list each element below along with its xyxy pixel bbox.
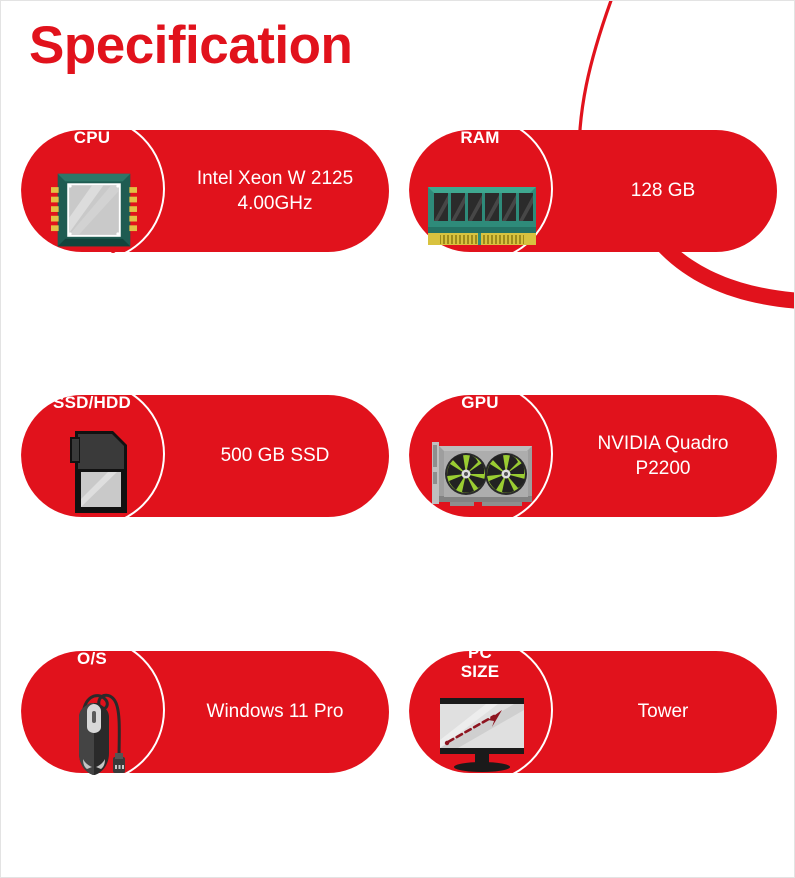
spec-value-ram: 128 GB — [549, 130, 777, 252]
badge-gpu: GPU — [407, 381, 557, 531]
badge-ram: RAM — [407, 116, 557, 266]
spec-card-storage[interactable]: SSD/HDD 500 GB SSD — [21, 395, 389, 517]
spec-label-storage: SSD/HDD — [19, 393, 165, 412]
spec-card-grid: CPU — [1, 1, 795, 878]
spec-value-text: Intel Xeon W 2125 4.00GHz — [197, 166, 353, 216]
spec-value-cpu: Intel Xeon W 2125 4.00GHz — [161, 130, 389, 252]
spec-label-ram: RAM — [407, 128, 553, 147]
computer-mouse-icon — [53, 681, 135, 779]
spec-value-text: 500 GB SSD — [221, 443, 330, 468]
badge-os: O/S — [19, 637, 169, 787]
spec-value-text: NVIDIA Quadro P2200 — [598, 431, 729, 481]
memory-card-icon — [55, 429, 133, 515]
spec-value-pc-size: Tower — [549, 651, 777, 773]
spec-card-cpu[interactable]: CPU — [21, 130, 389, 252]
badge-cpu: CPU — [19, 116, 169, 266]
spec-label-os: O/S — [19, 649, 165, 668]
spec-card-ram[interactable]: RAM — [409, 130, 777, 252]
spec-value-storage: 500 GB SSD — [161, 395, 389, 517]
spec-card-os[interactable]: O/S — [21, 651, 389, 773]
spec-value-gpu: NVIDIA Quadro P2200 — [549, 395, 777, 517]
badge-pc-size: PC SIZE — [407, 637, 557, 787]
spec-label-gpu: GPU — [407, 393, 553, 412]
spec-value-text: Windows 11 Pro — [207, 699, 344, 724]
spec-card-pc-size[interactable]: PC SIZE — [409, 651, 777, 773]
spec-card-gpu[interactable]: GPU — [409, 395, 777, 517]
page-title: Specification — [29, 15, 352, 76]
monitor-screen-size-icon — [436, 691, 528, 777]
spec-label-pc-size: PC SIZE — [407, 643, 553, 681]
badge-storage: SSD/HDD — [19, 381, 169, 531]
ram-module-icon — [426, 172, 538, 258]
spec-label-cpu: CPU — [19, 128, 165, 147]
spec-value-text: Tower — [638, 699, 689, 724]
cpu-chip-icon — [46, 168, 142, 254]
graphics-card-icon — [430, 433, 534, 519]
spec-value-text: 128 GB — [631, 178, 695, 203]
specification-page: Specification CPU — [0, 0, 795, 878]
spec-value-os: Windows 11 Pro — [161, 651, 389, 773]
